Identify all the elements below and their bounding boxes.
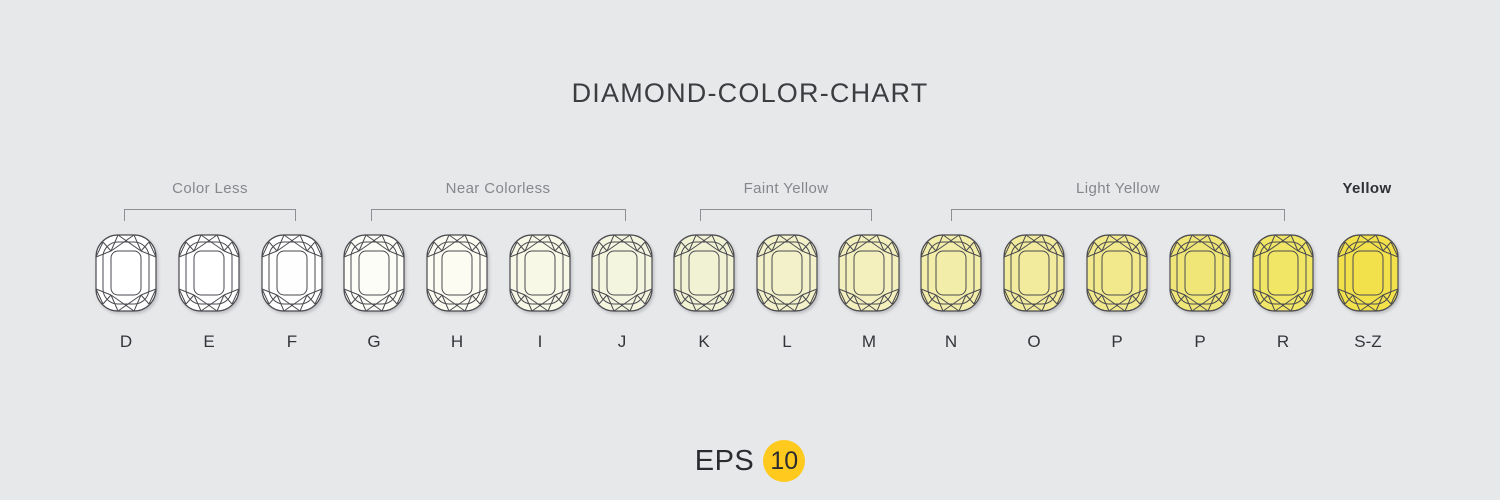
grade-label-n: N (911, 332, 991, 352)
diamond-stone-g[interactable] (343, 234, 405, 312)
grade-label-m: M (829, 332, 909, 352)
grade-label-p: P (1160, 332, 1240, 352)
eps-version-circle: 10 (763, 440, 805, 482)
eps-badge: EPS 10 (0, 440, 1500, 482)
diamond-stone-r[interactable] (1252, 234, 1314, 312)
grade-label-i: I (500, 332, 580, 352)
diamond-stone-h[interactable] (426, 234, 488, 312)
diamond-stone-o[interactable] (1003, 234, 1065, 312)
grade-label-p: P (1077, 332, 1157, 352)
diamond-stone-j[interactable] (591, 234, 653, 312)
grade-label-s-z: S-Z (1328, 332, 1408, 352)
grade-label-j: J (582, 332, 662, 352)
diamond-stone-p[interactable] (1169, 234, 1231, 312)
page-title: DIAMOND-COLOR-CHART (0, 78, 1500, 109)
group-label-color-less: Color Less (172, 180, 248, 197)
diamond-stone-f[interactable] (261, 234, 323, 312)
grade-label-g: G (334, 332, 414, 352)
diamond-stone-s-z[interactable] (1337, 234, 1399, 312)
diamond-stone-m[interactable] (838, 234, 900, 312)
group-label-near-colorless: Near Colorless (446, 180, 551, 197)
grade-label-e: E (169, 332, 249, 352)
group-bracket-faint-yellow (700, 209, 872, 221)
diamond-stone-l[interactable] (756, 234, 818, 312)
diamond-stone-e[interactable] (178, 234, 240, 312)
diamond-color-chart: DIAMOND-COLOR-CHART Color LessNear Color… (0, 0, 1500, 500)
group-label-yellow: Yellow (1342, 180, 1391, 197)
diamond-stone-n[interactable] (920, 234, 982, 312)
diamond-stone-i[interactable] (509, 234, 571, 312)
grade-label-k: K (664, 332, 744, 352)
grade-label-h: H (417, 332, 497, 352)
group-bracket-color-less (124, 209, 296, 221)
group-bracket-near-colorless (371, 209, 626, 221)
grade-label-r: R (1243, 332, 1323, 352)
grade-label-f: F (252, 332, 332, 352)
grade-label-d: D (86, 332, 166, 352)
diamond-stone-p[interactable] (1086, 234, 1148, 312)
diamond-stone-d[interactable] (95, 234, 157, 312)
group-bracket-light-yellow (951, 209, 1285, 221)
diamond-stone-k[interactable] (673, 234, 735, 312)
grade-label-l: L (747, 332, 827, 352)
grade-label-o: O (994, 332, 1074, 352)
group-label-faint-yellow: Faint Yellow (744, 180, 829, 197)
eps-label: EPS (695, 447, 755, 476)
group-label-light-yellow: Light Yellow (1076, 180, 1160, 197)
